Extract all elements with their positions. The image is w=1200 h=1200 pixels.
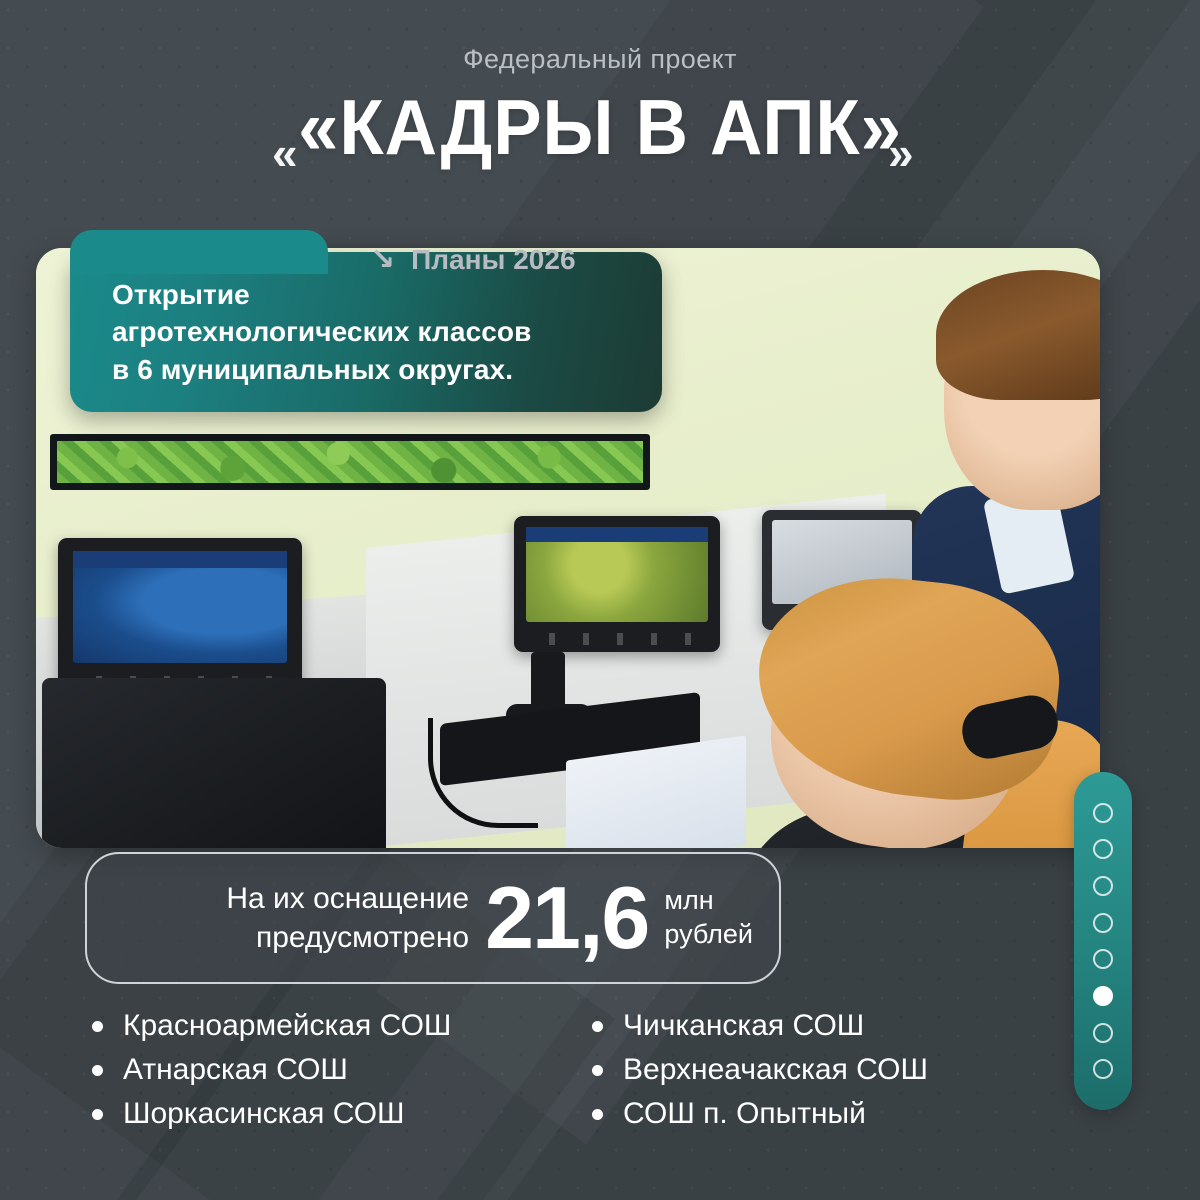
school-name: Верхнеачакская СОШ — [623, 1053, 928, 1087]
list-item: Атнарская СОШ — [92, 1048, 592, 1092]
bullet-icon — [592, 1109, 603, 1120]
bullet-icon — [92, 1109, 103, 1120]
list-item: Красноармейская СОШ — [92, 1004, 592, 1048]
school-name: Чичканская СОШ — [623, 1009, 864, 1043]
plans-label-text: Планы 2026 — [411, 244, 575, 276]
monitor-toolbar-center — [526, 527, 707, 542]
project-eyebrow: Федеральный проект — [0, 44, 1200, 75]
header: Федеральный проект «КАДРЫ В АПК» — [0, 44, 1200, 165]
arrow-down-right-icon: ↘ — [370, 245, 395, 275]
carousel-pagination[interactable] — [1074, 772, 1132, 1110]
school-name: Шоркасинская СОШ — [123, 1097, 405, 1131]
pagination-dot[interactable] — [1093, 1023, 1113, 1043]
pagination-dot-active[interactable] — [1093, 986, 1113, 1006]
stat-unit: млн рублей — [664, 884, 753, 952]
callout-line-1: Открытие — [112, 276, 632, 313]
list-item: Шоркасинская СОШ — [92, 1092, 592, 1136]
bullet-icon — [592, 1021, 603, 1032]
list-item: Верхнеачакская СОШ — [592, 1048, 1052, 1092]
school-name: Атнарская СОШ — [123, 1053, 348, 1087]
page-title: «КАДРЫ В АПК» — [42, 89, 1158, 165]
school-name: Красноармейская СОШ — [123, 1009, 451, 1043]
pagination-dot[interactable] — [1093, 949, 1113, 969]
infographic-canvas: Федеральный проект «КАДРЫ В АПК» — [0, 0, 1200, 1200]
monitor-toolbar-left — [73, 551, 288, 569]
pagination-dot[interactable] — [1093, 803, 1113, 823]
callout-line-3: в 6 муниципальных округах. — [112, 351, 632, 388]
microscope-monitor-center — [514, 516, 720, 652]
list-item: СОШ п. Опытный — [592, 1092, 1052, 1136]
monitor-stand-center — [531, 652, 565, 708]
laptop — [42, 678, 386, 848]
list-item: Чичканская СОШ — [592, 1004, 1052, 1048]
microscope-monitor-left — [58, 538, 302, 698]
callout-card: Открытие агротехнологических классов в 6… — [70, 252, 662, 412]
pagination-dot[interactable] — [1093, 1059, 1113, 1079]
bullet-icon — [92, 1065, 103, 1076]
pagination-dot[interactable] — [1093, 876, 1113, 896]
stat-label: На их оснащение предусмотрено — [226, 879, 469, 957]
plans-label: ↘ Планы 2026 — [370, 244, 576, 276]
stat-value: 21,6 — [485, 878, 648, 957]
pagination-dot[interactable] — [1093, 913, 1113, 933]
callout-line-2: агротехнологических классов — [112, 313, 632, 350]
funding-stat-card: На их оснащение предусмотрено 21,6 млн р… — [85, 852, 781, 984]
bullet-icon — [92, 1021, 103, 1032]
school-list: Красноармейская СОШ Чичканская СОШ Атнар… — [92, 1004, 1052, 1136]
pagination-dot[interactable] — [1093, 839, 1113, 859]
bullet-icon — [592, 1065, 603, 1076]
school-name: СОШ п. Опытный — [623, 1097, 866, 1131]
monitor-buttons-center — [535, 633, 700, 645]
moss-wall-panel — [50, 434, 650, 490]
